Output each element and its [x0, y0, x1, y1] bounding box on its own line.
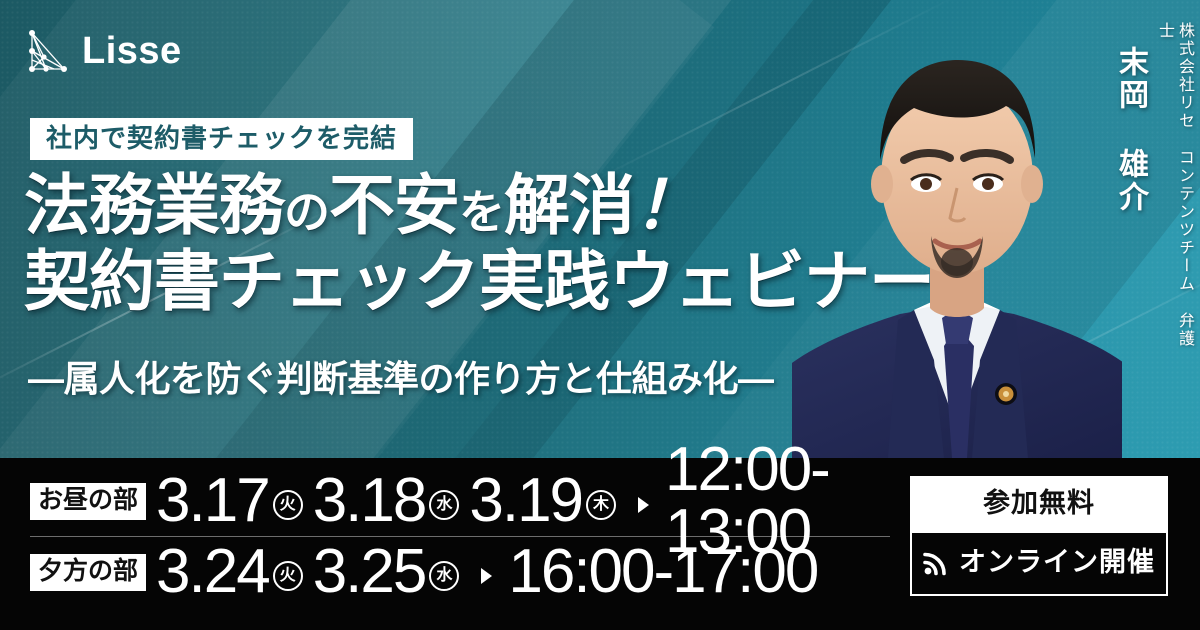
- session-time: 16:00-17:00: [508, 541, 817, 603]
- kicker-badge: 社内で契約書チェックを完結: [30, 118, 413, 160]
- online-event-badge: オンライン開催: [910, 533, 1168, 596]
- free-entry-badge: 参加無料: [910, 476, 1168, 533]
- online-event-label: オンライン開催: [959, 549, 1155, 576]
- day-of-week-badge: 火: [273, 561, 303, 591]
- session-part-badge: お昼の部: [30, 483, 146, 520]
- date-item: 3.17 火: [156, 470, 303, 532]
- day-of-week-badge: 火: [273, 490, 303, 520]
- session-dates: 3.24 火 3.25 水: [156, 541, 469, 603]
- day-of-week-badge: 木: [586, 490, 616, 520]
- date-item: 3.18 水: [313, 470, 460, 532]
- headline-line-1: 法務業務の不安を解消！: [24, 172, 924, 238]
- webinar-banner: Lisse 社内で契約書チェックを完結 法務業務の不安を解消！ 契約書チェック実…: [0, 0, 1200, 630]
- date-item: 3.24 火: [156, 541, 303, 603]
- broadcast-rss-icon: [923, 550, 949, 576]
- session-row-noon: お昼の部 3.17 火 3.18 水 3.19 木 1: [30, 466, 870, 536]
- speaker-name: 末岡 雄介: [1112, 46, 1148, 214]
- date-number: 3.18: [313, 470, 426, 532]
- speaker-info: 株式会社リセ コンテンツチーム 弁護士 末岡 雄介: [1112, 22, 1194, 352]
- headline-exclamation: ！: [634, 168, 699, 242]
- session-part-badge: 夕方の部: [30, 554, 146, 591]
- headline-part-kana-2: を: [459, 186, 504, 238]
- date-number: 3.24: [156, 541, 269, 603]
- date-number: 3.17: [156, 470, 269, 532]
- speaker-organization: 株式会社リセ コンテンツチーム 弁護士: [1154, 22, 1194, 352]
- info-box: 参加無料 オンライン開催: [910, 476, 1168, 596]
- headline-part-kana-1: の: [284, 186, 329, 238]
- day-of-week-badge: 水: [429, 490, 459, 520]
- schedule-bar: お昼の部 3.17 火 3.18 水 3.19 木 1: [0, 458, 1200, 630]
- triangle-pointer-icon: [638, 497, 649, 513]
- speaker-portrait: [792, 8, 1122, 458]
- headline-part-mid: 不安: [329, 168, 459, 242]
- headline-part-main: 法務業務: [24, 168, 284, 242]
- session-row-evening: 夕方の部 3.24 火 3.25 水 16:00-17:00: [30, 537, 870, 607]
- network-triangle-icon: [24, 27, 68, 75]
- headline-subline: ―属人化を防ぐ判断基準の作り方と仕組み化―: [28, 350, 774, 402]
- headline-block: 法務業務の不安を解消！ 契約書チェック実践ウェビナー: [24, 172, 924, 314]
- headline-part-end: 解消: [504, 168, 634, 242]
- session-list: お昼の部 3.17 火 3.18 水 3.19 木 1: [30, 466, 870, 607]
- brand-logo[interactable]: Lisse: [24, 27, 182, 75]
- brand-name: Lisse: [82, 32, 182, 70]
- date-number: 3.25: [313, 541, 426, 603]
- date-item: 3.25 水: [313, 541, 460, 603]
- date-item: 3.19 木: [469, 470, 616, 532]
- session-dates: 3.17 火 3.18 水 3.19 木: [156, 470, 626, 532]
- date-number: 3.19: [469, 470, 582, 532]
- headline-line-2: 契約書チェック実践ウェビナー: [24, 248, 924, 314]
- triangle-pointer-icon: [481, 568, 492, 584]
- day-of-week-badge: 水: [429, 561, 459, 591]
